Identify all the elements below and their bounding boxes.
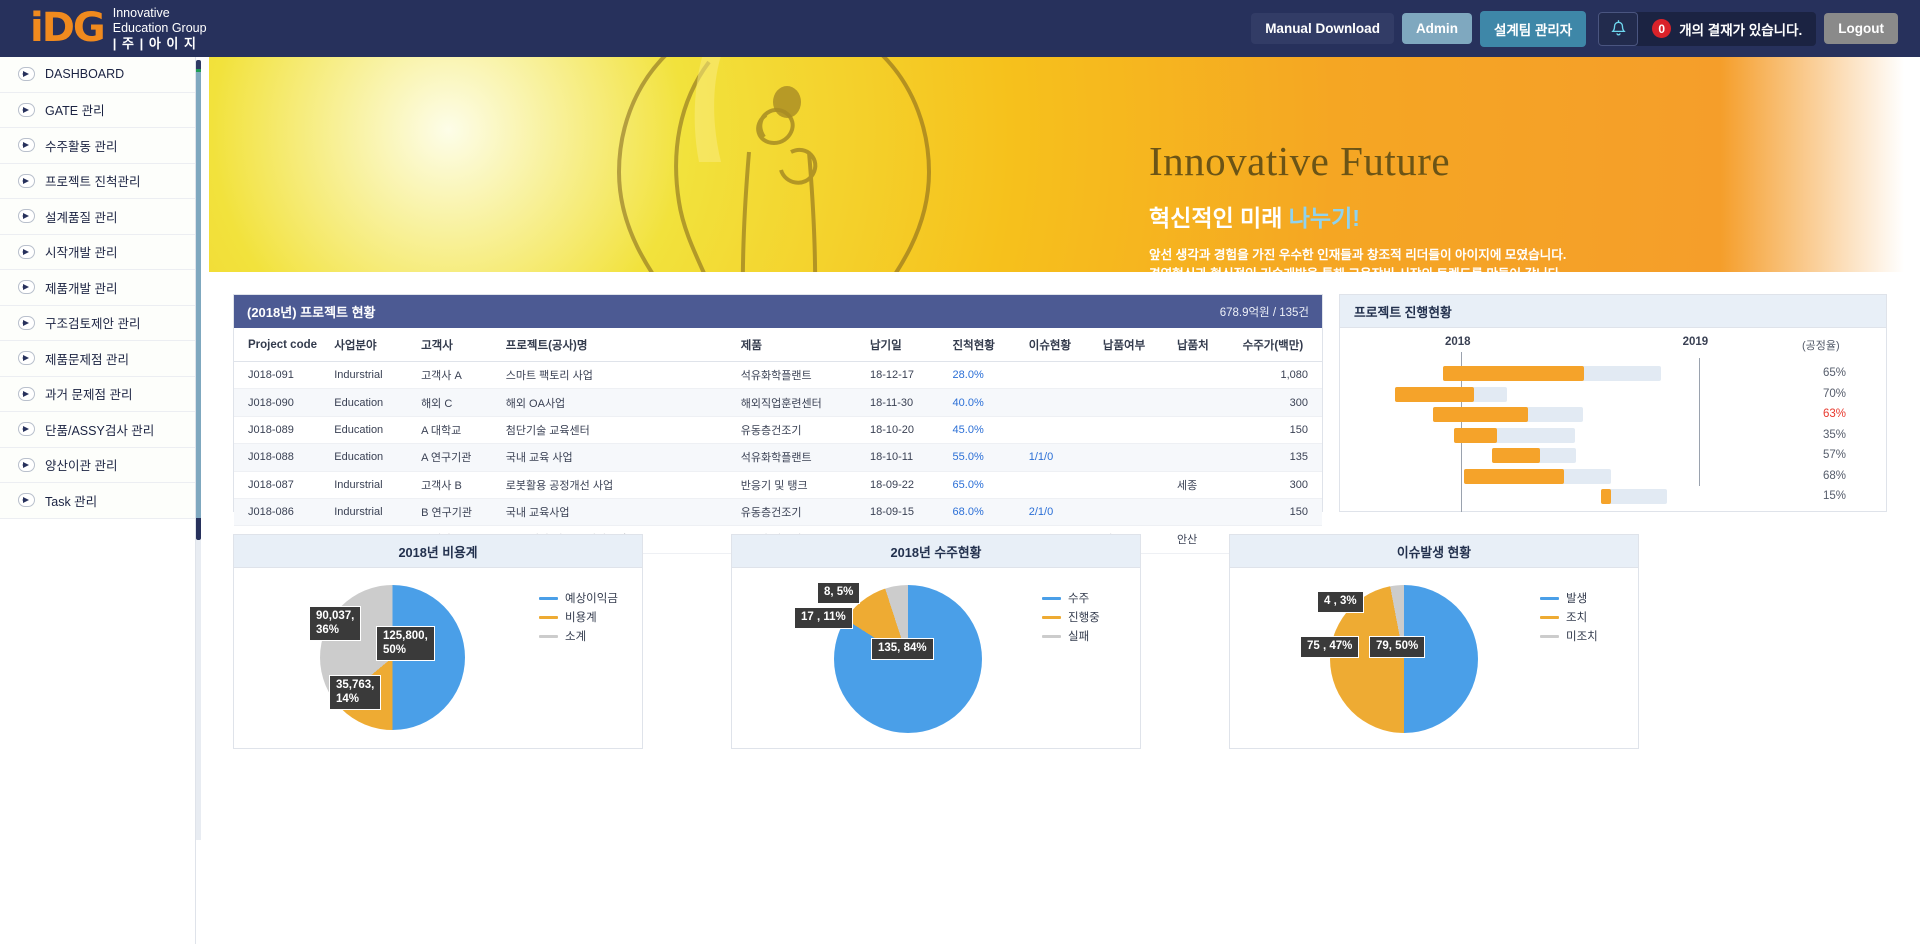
- orders-slice-label-2: 8, 5%: [817, 582, 860, 604]
- cell-project-name: 국내 교육 사업: [500, 444, 735, 471]
- logo-mark: iDG: [30, 8, 104, 48]
- header-actions: Manual Download Admin 설계팀 관리자 0 개의 결재가 있…: [1251, 11, 1920, 47]
- cell-delivered: [1097, 471, 1171, 498]
- logo-line1: Innovative: [113, 6, 207, 21]
- sidebar-item-11[interactable]: 양산이관 관리: [0, 448, 195, 484]
- cost-pie-body: 125,800, 50%35,763, 14%90,037, 36%예상이익금비…: [234, 568, 642, 749]
- cell-client: 해외 C: [415, 389, 500, 416]
- col-due-date: 납기일: [864, 328, 947, 362]
- cell-issue: [1023, 471, 1097, 498]
- cell-destination: 세종: [1171, 471, 1237, 498]
- banner-title: Innovative Future: [1149, 141, 1566, 182]
- project-table-head: Project code 사업분야 고객사 프로젝트(공사)명 제품 납기일 진…: [234, 328, 1322, 362]
- legend-swatch-icon: [1540, 635, 1559, 638]
- orders-pie-panel: 2018년 수주현황 135, 84%17 , 11%8, 5%수주진행중실패: [731, 534, 1141, 749]
- gantt-axis-tick-1: 2019: [1683, 336, 1709, 348]
- project-progress-panel: 프로젝트 진행현황 20182019(공정율)65%70%63%35%57%68…: [1339, 294, 1887, 512]
- cell-product: 유동층건조기: [735, 498, 864, 525]
- cell-product: 석유화학플랜트: [735, 444, 864, 471]
- legend-swatch-icon: [1042, 635, 1061, 638]
- col-amount: 수주가(백만): [1237, 328, 1322, 362]
- cell-project-code: J018-091: [234, 362, 328, 389]
- orders-pie-body: 135, 84%17 , 11%8, 5%수주진행중실패: [732, 568, 1140, 749]
- sidebar-item-1[interactable]: GATE 관리: [0, 93, 195, 129]
- cell-delivered: [1097, 416, 1171, 443]
- team-manager-button[interactable]: 설계팀 관리자: [1480, 11, 1586, 47]
- banner-desc-line1: 앞선 생각과 경험을 가진 우수한 인재들과 창조적 리더들이 아이지에 모였습…: [1149, 246, 1566, 265]
- cost-pie-panel: 2018년 비용계 125,800, 50%35,763, 14%90,037,…: [233, 534, 643, 749]
- cell-product: 석유화학플랜트: [735, 362, 864, 389]
- gantt-unit-label: (공정율): [1802, 337, 1840, 353]
- legend-swatch-icon: [1042, 616, 1061, 619]
- chevron-right-icon: [18, 493, 35, 507]
- orders-legend-item-0[interactable]: 수주: [1042, 590, 1100, 606]
- cell-delivered: [1097, 444, 1171, 471]
- gantt-bar-fill-5[interactable]: [1464, 469, 1564, 484]
- cell-field: Indurstrial: [328, 498, 415, 525]
- project-status-panel: (2018년) 프로젝트 현황 678.9억원 / 135건 Project c…: [233, 294, 1323, 512]
- sidebar-item-2[interactable]: 수주활동 관리: [0, 128, 195, 164]
- cell-amount: 300: [1237, 389, 1322, 416]
- cell-client: 고객사 B: [415, 471, 500, 498]
- col-field: 사업분야: [328, 328, 415, 362]
- gantt-percent-5: 68%: [1802, 470, 1846, 482]
- legend-label: 진행중: [1068, 609, 1100, 625]
- admin-button[interactable]: Admin: [1402, 13, 1472, 44]
- gantt-percent-4: 57%: [1802, 449, 1846, 461]
- hero-banner: Innovative Future 혁신적인 미래 나누기! 앞선 생각과 경험…: [209, 57, 1920, 272]
- col-product: 제품: [735, 328, 864, 362]
- legend-swatch-icon: [539, 635, 558, 638]
- bell-icon[interactable]: [1598, 12, 1638, 46]
- banner-subtitle: 혁신적인 미래 나누기!: [1149, 199, 1566, 233]
- banner-text-block: Innovative Future 혁신적인 미래 나누기! 앞선 생각과 경험…: [1149, 141, 1566, 272]
- issues-panel-title: 이슈발생 현황: [1397, 542, 1471, 561]
- notification-badge: 0: [1652, 19, 1671, 38]
- table-row[interactable]: J018-088EducationA 연구기관국내 교육 사업석유화학플랜트18…: [234, 444, 1322, 471]
- cell-progress[interactable]: 65.0%: [947, 471, 1023, 498]
- cell-destination: [1171, 444, 1237, 471]
- orders-panel-header: 2018년 수주현황: [732, 535, 1140, 568]
- issues-legend-item-2[interactable]: 미조치: [1540, 628, 1598, 644]
- legend-label: 수주: [1068, 590, 1089, 606]
- app-header: iDG Innovative Education Group | 주 | 아 이…: [0, 0, 1920, 57]
- cell-progress[interactable]: 28.0%: [947, 362, 1023, 389]
- gantt-chart: 20182019(공정율)65%70%63%35%57%68%15%: [1340, 328, 1886, 512]
- cell-due-date: 18-10-20: [864, 416, 947, 443]
- issues-slice-label-2: 4 , 3%: [1317, 591, 1364, 613]
- sidebar-item-label: 설계품질 관리: [45, 207, 117, 226]
- gantt-percent-6: 15%: [1802, 490, 1846, 502]
- chevron-right-icon: [18, 174, 35, 188]
- gantt-axis-tick-0: 2018: [1445, 336, 1471, 348]
- notification-area[interactable]: 0 개의 결재가 있습니다.: [1598, 12, 1816, 46]
- cell-project-code: J018-088: [234, 444, 328, 471]
- table-header-row: Project code 사업분야 고객사 프로젝트(공사)명 제품 납기일 진…: [234, 328, 1322, 362]
- dashboard-row-top: (2018년) 프로젝트 현황 678.9억원 / 135건 Project c…: [201, 294, 1920, 512]
- cell-project-code: J018-086: [234, 498, 328, 525]
- cell-client: 고객사 A: [415, 362, 500, 389]
- chevron-right-icon: [18, 138, 35, 152]
- notification-text: 개의 결재가 있습니다.: [1679, 19, 1802, 39]
- logo-line2: Education Group: [113, 21, 207, 36]
- chevron-right-icon: [18, 209, 35, 223]
- sidebar-item-label: 프로젝트 진척관리: [45, 171, 140, 190]
- cell-issue: [1023, 389, 1097, 416]
- cell-amount: 135: [1237, 444, 1322, 471]
- project-table-body: J018-091Indurstrial고객사 A스마트 팩토리 사업석유화학플랜…: [234, 362, 1322, 554]
- gantt-percent-1: 70%: [1802, 388, 1846, 400]
- sidebar-item-7[interactable]: 구조검토제안 관리: [0, 306, 195, 342]
- cell-due-date: 18-12-17: [864, 362, 947, 389]
- sidebar-item-4[interactable]: 설계품질 관리: [0, 199, 195, 235]
- banner-description: 앞선 생각과 경험을 가진 우수한 인재들과 창조적 리더들이 아이지에 모였습…: [1149, 246, 1566, 272]
- chevron-right-icon: [18, 316, 35, 330]
- sidebar-item-label: 과거 문제점 관리: [45, 384, 132, 403]
- col-delivered: 납품여부: [1097, 328, 1171, 362]
- sidebar-item-10[interactable]: 단품/ASSY검사 관리: [0, 412, 195, 448]
- sidebar-item-label: 양산이관 관리: [45, 455, 117, 474]
- sidebar-nav: DASHBOARDGATE 관리수주활동 관리프로젝트 진척관리설계품질 관리시…: [0, 57, 196, 944]
- gantt-gridline-1: [1699, 358, 1700, 486]
- project-table: Project code 사업분야 고객사 프로젝트(공사)명 제품 납기일 진…: [234, 328, 1322, 554]
- cell-progress[interactable]: 55.0%: [947, 444, 1023, 471]
- project-panel-summary: 678.9억원 / 135건: [1220, 304, 1309, 320]
- issues-slice-label-0: 79, 50%: [1369, 636, 1425, 658]
- cell-due-date: 18-09-22: [864, 471, 947, 498]
- sidebar-item-9[interactable]: 과거 문제점 관리: [0, 377, 195, 413]
- col-client: 고객사: [415, 328, 500, 362]
- cell-destination: [1171, 416, 1237, 443]
- cell-destination: [1171, 389, 1237, 416]
- legend-label: 비용계: [565, 609, 597, 625]
- legend-label: 실패: [1068, 628, 1089, 644]
- cell-progress[interactable]: 45.0%: [947, 416, 1023, 443]
- chevron-right-icon: [18, 245, 35, 259]
- cost-panel-title: 2018년 비용계: [398, 542, 477, 561]
- cell-amount: 1,080: [1237, 362, 1322, 389]
- dashboard-row-charts: 2018년 비용계 125,800, 50%35,763, 14%90,037,…: [201, 534, 1920, 749]
- cell-field: Education: [328, 416, 415, 443]
- orders-legend: 수주진행중실패: [1042, 590, 1100, 647]
- legend-label: 예상이익금: [565, 590, 618, 606]
- sidebar-item-label: DASHBOARD: [45, 67, 124, 81]
- gantt-percent-0: 65%: [1802, 367, 1846, 379]
- sidebar-item-5[interactable]: 시작개발 관리: [0, 235, 195, 271]
- cell-product: 반응기 및 탱크: [735, 471, 864, 498]
- chevron-right-icon: [18, 387, 35, 401]
- table-row[interactable]: J018-091Indurstrial고객사 A스마트 팩토리 사업석유화학플랜…: [234, 362, 1322, 389]
- cell-due-date: 18-10-11: [864, 444, 947, 471]
- gantt-bar-fill-0[interactable]: [1443, 366, 1585, 381]
- sidebar-item-label: GATE 관리: [45, 100, 105, 119]
- cell-destination: [1171, 498, 1237, 525]
- cost-legend-item-1[interactable]: 비용계: [539, 609, 618, 625]
- cell-project-name: 국내 교육사업: [500, 498, 735, 525]
- cell-destination: [1171, 362, 1237, 389]
- cell-client: A 대학교: [415, 416, 500, 443]
- col-project-code: Project code: [234, 328, 328, 362]
- col-issue: 이슈현황: [1023, 328, 1097, 362]
- lightbulb-illustration: [559, 57, 989, 272]
- gantt-panel-header: 프로젝트 진행현황: [1340, 295, 1886, 328]
- cell-delivered: [1097, 389, 1171, 416]
- logo-text: Innovative Education Group | 주 | 아 이 지: [113, 6, 207, 51]
- manual-download-button[interactable]: Manual Download: [1251, 13, 1394, 44]
- chevron-right-icon: [18, 280, 35, 294]
- issues-legend-item-1[interactable]: 조치: [1540, 609, 1598, 625]
- cell-field: Indurstrial: [328, 471, 415, 498]
- project-panel-header: (2018년) 프로젝트 현황 678.9억원 / 135건: [234, 295, 1322, 328]
- sidebar-item-8[interactable]: 제품문제점 관리: [0, 341, 195, 377]
- cost-legend: 예상이익금비용계소계: [539, 590, 618, 647]
- cost-legend-item-0[interactable]: 예상이익금: [539, 590, 618, 606]
- cell-product: 해외직업훈련센터: [735, 389, 864, 416]
- cell-product: 유동층건조기: [735, 416, 864, 443]
- cell-delivered: [1097, 498, 1171, 525]
- sidebar-item-6[interactable]: 제품개발 관리: [0, 270, 195, 306]
- legend-label: 소계: [565, 628, 586, 644]
- banner-desc-line2: 경영혁신과 혁신적인 기술개발을 통해 교육장비 시장의 트렌드를 만들어 갑니…: [1149, 265, 1566, 272]
- col-project-name: 프로젝트(공사)명: [500, 328, 735, 362]
- cost-slice-label-0: 125,800, 50%: [376, 626, 435, 661]
- banner-fade-overlay: [1720, 57, 1920, 272]
- sidebar-item-label: 제품개발 관리: [45, 278, 117, 297]
- cell-amount: 150: [1237, 498, 1322, 525]
- orders-panel-title: 2018년 수주현황: [891, 542, 982, 561]
- cell-delivered: [1097, 362, 1171, 389]
- cost-slice-label-1: 35,763, 14%: [329, 675, 381, 710]
- legend-label: 미조치: [1566, 628, 1598, 644]
- cell-due-date: 18-09-15: [864, 498, 947, 525]
- table-row[interactable]: J018-086IndurstrialB 연구기관국내 교육사업유동층건조기18…: [234, 498, 1322, 525]
- cell-project-code: J018-087: [234, 471, 328, 498]
- chevron-right-icon: [18, 458, 35, 472]
- gantt-bar-fill-2[interactable]: [1433, 407, 1528, 422]
- orders-slice-label-0: 135, 84%: [871, 638, 934, 660]
- logo-line3: | 주 | 아 이 지: [113, 36, 207, 51]
- issues-pie-panel: 이슈발생 현황 79, 50%75 , 47%4 , 3%발생조치미조치: [1229, 534, 1639, 749]
- cell-issue[interactable]: 2/1/0: [1023, 498, 1097, 525]
- banner-subtitle-accent: 나누기!: [1289, 205, 1360, 231]
- table-row[interactable]: J018-090Education해외 C해외 OA사업해외직업훈련센터18-1…: [234, 389, 1322, 416]
- issues-legend: 발생조치미조치: [1540, 590, 1598, 647]
- sidebar-item-label: 구조검토제안 관리: [45, 313, 140, 332]
- cell-client: B 연구기관: [415, 498, 500, 525]
- gantt-percent-3: 35%: [1802, 429, 1846, 441]
- sidebar-item-label: 제품문제점 관리: [45, 349, 129, 368]
- cell-project-name: 스마트 팩토리 사업: [500, 362, 735, 389]
- sidebar-item-label: 시작개발 관리: [45, 242, 117, 261]
- chevron-right-icon: [18, 422, 35, 436]
- col-destination: 납품처: [1171, 328, 1237, 362]
- table-row[interactable]: J018-087Indurstrial고객사 B로봇활용 공정개선 사업반응기 …: [234, 471, 1322, 498]
- cell-due-date: 18-11-30: [864, 389, 947, 416]
- chevron-right-icon: [18, 103, 35, 117]
- table-row[interactable]: J018-089EducationA 대학교첨단기술 교육센터유동층건조기18-…: [234, 416, 1322, 443]
- logo[interactable]: iDG Innovative Education Group | 주 | 아 이…: [0, 6, 207, 51]
- cell-issue: [1023, 362, 1097, 389]
- issues-panel-header: 이슈발생 현황: [1230, 535, 1638, 568]
- cell-field: Education: [328, 389, 415, 416]
- cell-progress[interactable]: 68.0%: [947, 498, 1023, 525]
- chevron-right-icon: [18, 351, 35, 365]
- cell-progress[interactable]: 40.0%: [947, 389, 1023, 416]
- orders-legend-item-2[interactable]: 실패: [1042, 628, 1100, 644]
- legend-swatch-icon: [539, 616, 558, 619]
- project-panel-title: (2018년) 프로젝트 현황: [247, 302, 376, 321]
- gantt-percent-2: 63%: [1802, 408, 1846, 420]
- legend-label: 조치: [1566, 609, 1587, 625]
- banner-subtitle-main: 혁신적인 미래: [1149, 205, 1289, 231]
- cell-project-name: 로봇활용 공정개선 사업: [500, 471, 735, 498]
- sidebar-item-0[interactable]: DASHBOARD: [0, 57, 195, 93]
- gantt-panel-title: 프로젝트 진행현황: [1354, 302, 1452, 321]
- cell-amount: 150: [1237, 416, 1322, 443]
- legend-swatch-icon: [1540, 597, 1559, 600]
- main-content: Innovative Future 혁신적인 미래 나누기! 앞선 생각과 경험…: [201, 57, 1920, 944]
- cell-client: A 연구기관: [415, 444, 500, 471]
- legend-swatch-icon: [539, 597, 558, 600]
- col-progress: 진척현황: [947, 328, 1023, 362]
- gantt-bar-fill-1[interactable]: [1395, 387, 1474, 402]
- gantt-bar-fill-4[interactable]: [1492, 448, 1540, 463]
- cost-legend-item-2[interactable]: 소계: [539, 628, 618, 644]
- cell-issue[interactable]: 1/1/0: [1023, 444, 1097, 471]
- cell-project-code: J018-089: [234, 416, 328, 443]
- chevron-right-icon: [18, 67, 35, 81]
- legend-label: 발생: [1566, 590, 1587, 606]
- cell-field: Education: [328, 444, 415, 471]
- orders-legend-item-1[interactable]: 진행중: [1042, 609, 1100, 625]
- cell-project-name: 첨단기술 교육센터: [500, 416, 735, 443]
- cell-amount: 300: [1237, 471, 1322, 498]
- cell-project-code: J018-090: [234, 389, 328, 416]
- sidebar-item-3[interactable]: 프로젝트 진척관리: [0, 164, 195, 200]
- legend-swatch-icon: [1042, 597, 1061, 600]
- orders-slice-label-1: 17 , 11%: [794, 607, 853, 629]
- cell-field: Indurstrial: [328, 362, 415, 389]
- logout-button[interactable]: Logout: [1824, 13, 1898, 44]
- sidebar-item-12[interactable]: Task 관리: [0, 483, 195, 519]
- cost-panel-header: 2018년 비용계: [234, 535, 642, 568]
- sidebar-item-label: Task 관리: [45, 491, 97, 510]
- gantt-bar-track-6: [1601, 489, 1667, 504]
- issues-pie-body: 79, 50%75 , 47%4 , 3%발생조치미조치: [1230, 568, 1638, 749]
- gantt-bar-fill-3[interactable]: [1454, 428, 1496, 443]
- issues-slice-label-1: 75 , 47%: [1300, 636, 1359, 658]
- sidebar-item-label: 수주활동 관리: [45, 136, 117, 155]
- sidebar-item-list: DASHBOARDGATE 관리수주활동 관리프로젝트 진척관리설계품질 관리시…: [0, 57, 195, 519]
- cell-project-name: 해외 OA사업: [500, 389, 735, 416]
- gantt-bar-fill-6[interactable]: [1601, 489, 1611, 504]
- legend-swatch-icon: [1540, 616, 1559, 619]
- sidebar-item-label: 단품/ASSY검사 관리: [45, 420, 154, 439]
- cost-slice-label-2: 90,037, 36%: [309, 606, 361, 641]
- cell-issue: [1023, 416, 1097, 443]
- issues-legend-item-0[interactable]: 발생: [1540, 590, 1598, 606]
